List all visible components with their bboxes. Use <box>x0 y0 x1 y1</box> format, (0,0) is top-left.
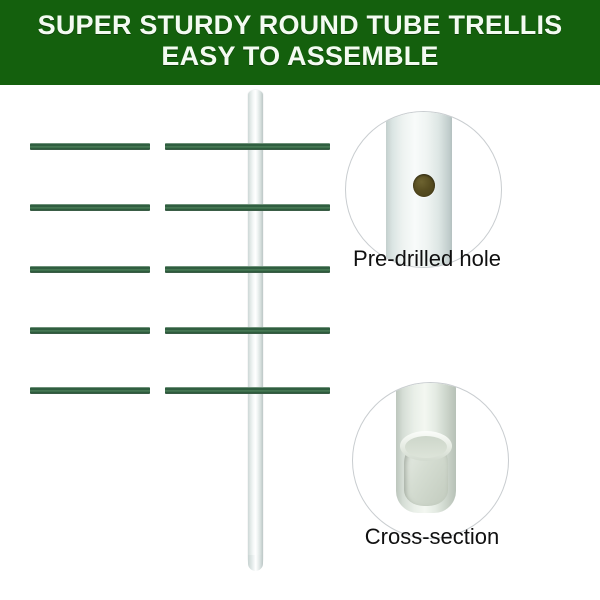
crossbar-left-5 <box>30 387 150 394</box>
banner-headline-line-1: SUPER STURDY ROUND TUBE TRELLIS <box>38 10 563 40</box>
callout-circle-cross-section <box>352 382 509 539</box>
banner-headline-line-2: EASY TO ASSEMBLE <box>161 41 438 71</box>
header-banner: SUPER STURDY ROUND TUBE TRELLIS EASY TO … <box>0 0 600 85</box>
crossbar-left-4 <box>30 327 150 334</box>
crossbar-left-2 <box>30 204 150 211</box>
product-infographic: SUPER STURDY ROUND TUBE TRELLIS EASY TO … <box>0 0 600 600</box>
tube-rim-inner-icon <box>405 436 447 458</box>
crossbar-left-3 <box>30 266 150 273</box>
crossbar-right-2 <box>165 204 330 211</box>
trellis-pole-tip-icon <box>248 555 263 571</box>
crossbar-right-4 <box>165 327 330 334</box>
trellis-illustration <box>0 85 340 600</box>
crossbar-right-5 <box>165 387 330 394</box>
crossbar-right-1 <box>165 143 330 150</box>
callout-circle-pre-drilled-hole <box>345 111 502 268</box>
crossbar-right-3 <box>165 266 330 273</box>
crossbar-left-1 <box>30 143 150 150</box>
pre-drilled-hole-icon <box>413 174 435 197</box>
callout-label-pre-drilled-hole: Pre-drilled hole <box>352 246 502 272</box>
callout-label-cross-section: Cross-section <box>357 524 507 550</box>
